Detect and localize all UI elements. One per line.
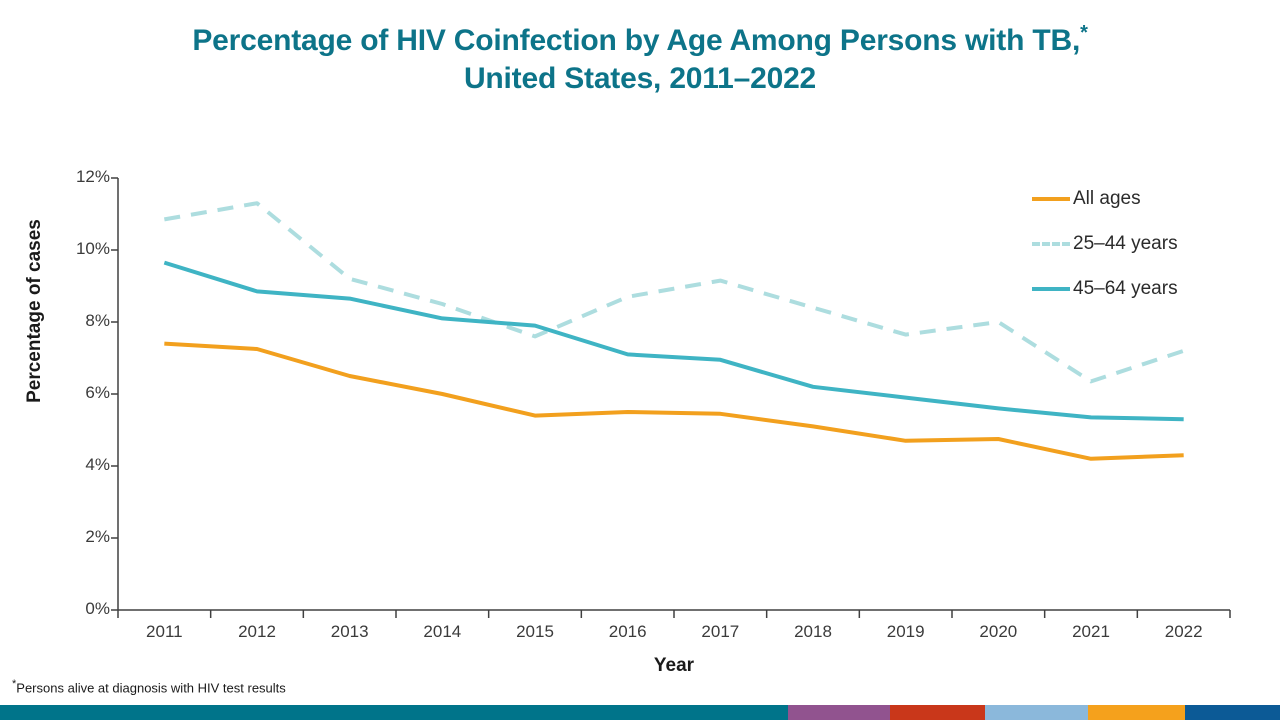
footnote: *Persons alive at diagnosis with HIV tes… (12, 678, 286, 695)
legend-item-label: All ages (1073, 188, 1141, 210)
title-line-2: United States, 2011–2022 (0, 60, 1280, 98)
x-tick-label: 2015 (490, 622, 580, 642)
series-line-1 (164, 203, 1183, 381)
x-tick-label: 2022 (1139, 622, 1229, 642)
legend-swatch-icon (1032, 242, 1070, 246)
x-tick-label: 2013 (305, 622, 395, 642)
series-line-0 (164, 344, 1183, 459)
legend-item-label: 45–64 years (1073, 278, 1178, 300)
y-tick-label: 6% (48, 383, 110, 403)
x-tick-label: 2011 (119, 622, 209, 642)
bottom-bar-segment-red (890, 705, 985, 720)
legend-item-label: 25–44 years (1073, 233, 1178, 255)
legend-swatch-icon (1032, 197, 1070, 201)
chart-legend: All ages25–44 years45–64 years (1032, 184, 1242, 319)
bottom-bar-segment-dark-blue (1185, 705, 1280, 720)
x-tick-label: 2019 (861, 622, 951, 642)
bottom-bar-segment-orange (1088, 705, 1185, 720)
x-tick-label: 2016 (583, 622, 673, 642)
bottom-color-bar (0, 705, 1280, 720)
x-tick-label: 2017 (675, 622, 765, 642)
legend-swatch-icon (1032, 287, 1070, 291)
bottom-bar-segment-light-blue (985, 705, 1088, 720)
x-axis-title: Year (118, 655, 1230, 677)
y-tick-label: 4% (48, 455, 110, 475)
page-title: Percentage of HIV Coinfection by Age Amo… (0, 22, 1280, 98)
y-tick-label: 8% (48, 311, 110, 331)
bottom-bar-segment-purple (788, 705, 890, 720)
x-tick-label: 2012 (212, 622, 302, 642)
y-axis-title: Percentage of cases (24, 216, 46, 406)
x-tick-label: 2021 (1046, 622, 1136, 642)
y-tick-label: 12% (48, 167, 110, 187)
x-axis-ticks: 2011201220132014201520162017201820192020… (118, 622, 1230, 646)
x-tick-label: 2020 (953, 622, 1043, 642)
bottom-bar-segment-teal (0, 705, 788, 720)
legend-item[interactable]: 25–44 years (1032, 229, 1242, 259)
x-tick-label: 2018 (768, 622, 858, 642)
footnote-text: Persons alive at diagnosis with HIV test… (16, 680, 286, 695)
y-tick-label: 0% (48, 599, 110, 619)
y-tick-label: 10% (48, 239, 110, 259)
legend-item[interactable]: All ages (1032, 184, 1242, 214)
title-line-1: Percentage of HIV Coinfection by Age Amo… (192, 24, 1080, 57)
y-tick-label: 2% (48, 527, 110, 547)
x-tick-label: 2014 (397, 622, 487, 642)
legend-item[interactable]: 45–64 years (1032, 274, 1242, 304)
y-axis-ticks: 12%10%8%6%4%2%0% (38, 178, 110, 610)
title-footnote-marker: * (1080, 22, 1088, 44)
